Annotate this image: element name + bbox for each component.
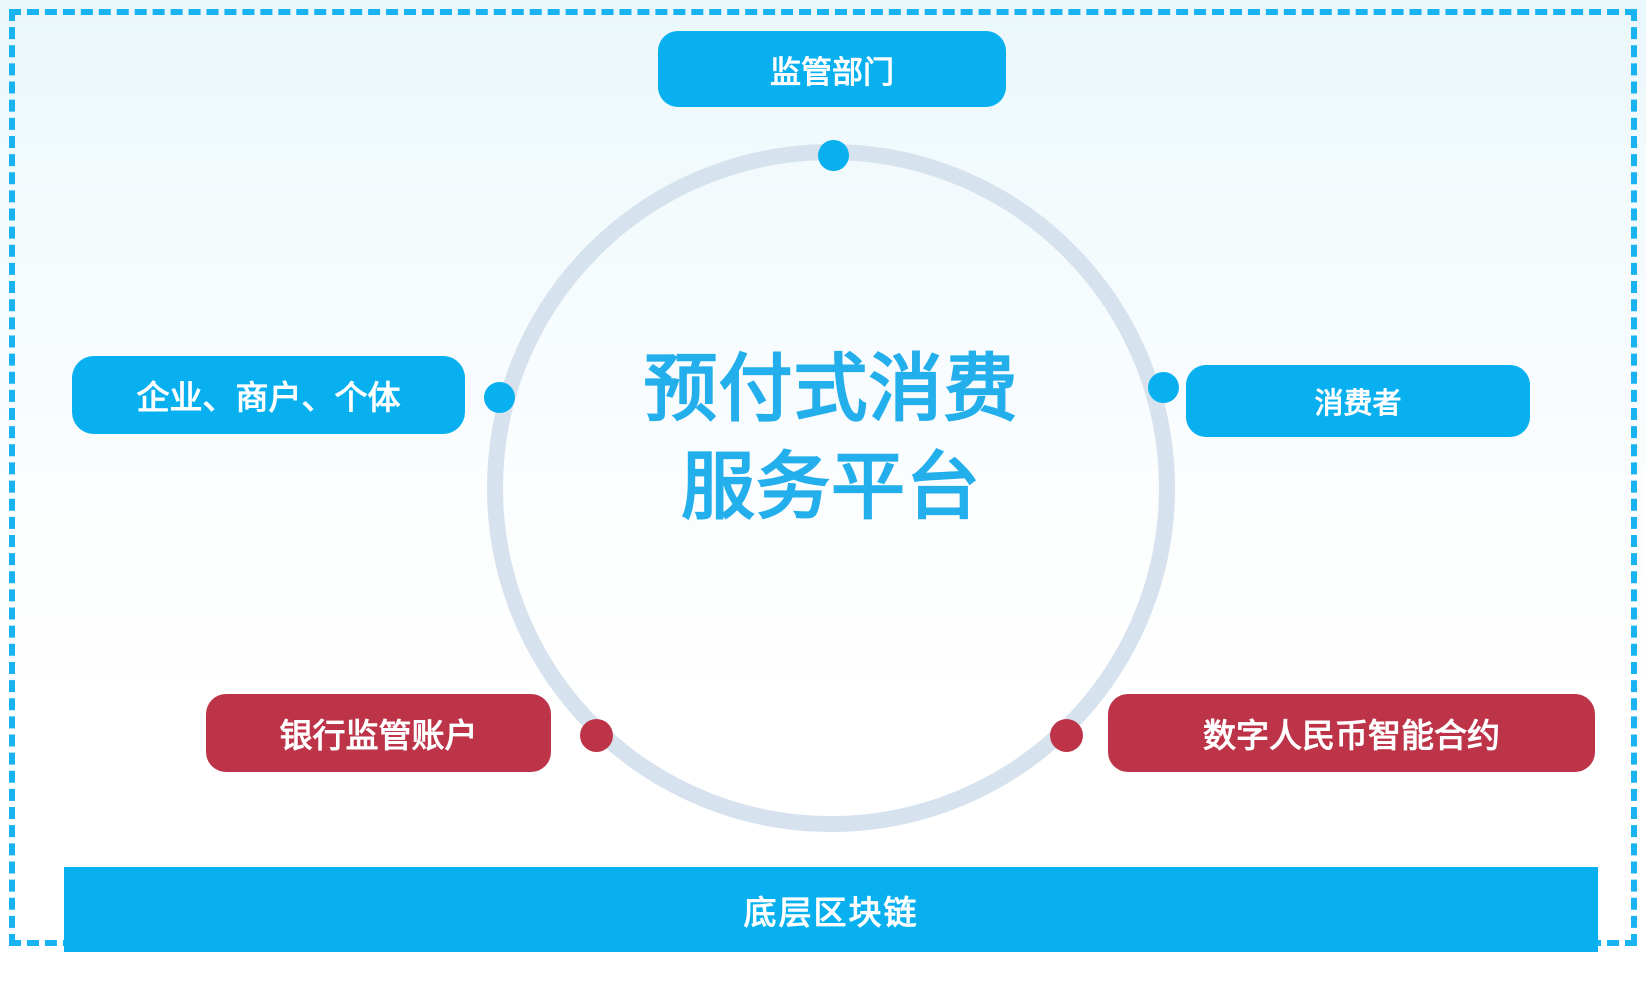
connector-dot-enterprises bbox=[484, 382, 515, 413]
node-consumers-label: 消费者 bbox=[1314, 380, 1401, 422]
node-enterprises[interactable]: 企业、商户、个体 bbox=[72, 356, 465, 434]
node-bank-account[interactable]: 银行监管账户 bbox=[206, 694, 551, 772]
foundation-blockchain-bar[interactable]: 底层区块链 bbox=[64, 867, 1598, 952]
node-enterprises-label: 企业、商户、个体 bbox=[137, 371, 401, 419]
node-regulator-label: 监管部门 bbox=[770, 47, 894, 92]
connector-dot-consumers bbox=[1148, 372, 1179, 403]
node-bank-account-label: 银行监管账户 bbox=[280, 709, 478, 757]
prepaid-consumption-platform-diagram: 预付式消费 服务平台 监管部门 企业、商户、个体 消费者 银行监管账户 数字人民… bbox=[0, 0, 1646, 1000]
node-regulator[interactable]: 监管部门 bbox=[658, 31, 1006, 107]
foundation-blockchain-label: 底层区块链 bbox=[744, 886, 919, 934]
platform-center-title: 预付式消费 服务平台 bbox=[531, 340, 1131, 535]
connector-dot-bank-account bbox=[580, 719, 613, 752]
node-smart-contract[interactable]: 数字人民币智能合约 bbox=[1108, 694, 1595, 772]
node-smart-contract-label: 数字人民币智能合约 bbox=[1203, 709, 1500, 757]
connector-dot-smart-contract bbox=[1050, 719, 1083, 752]
connector-dot-regulator bbox=[818, 140, 849, 171]
node-consumers[interactable]: 消费者 bbox=[1186, 365, 1530, 437]
